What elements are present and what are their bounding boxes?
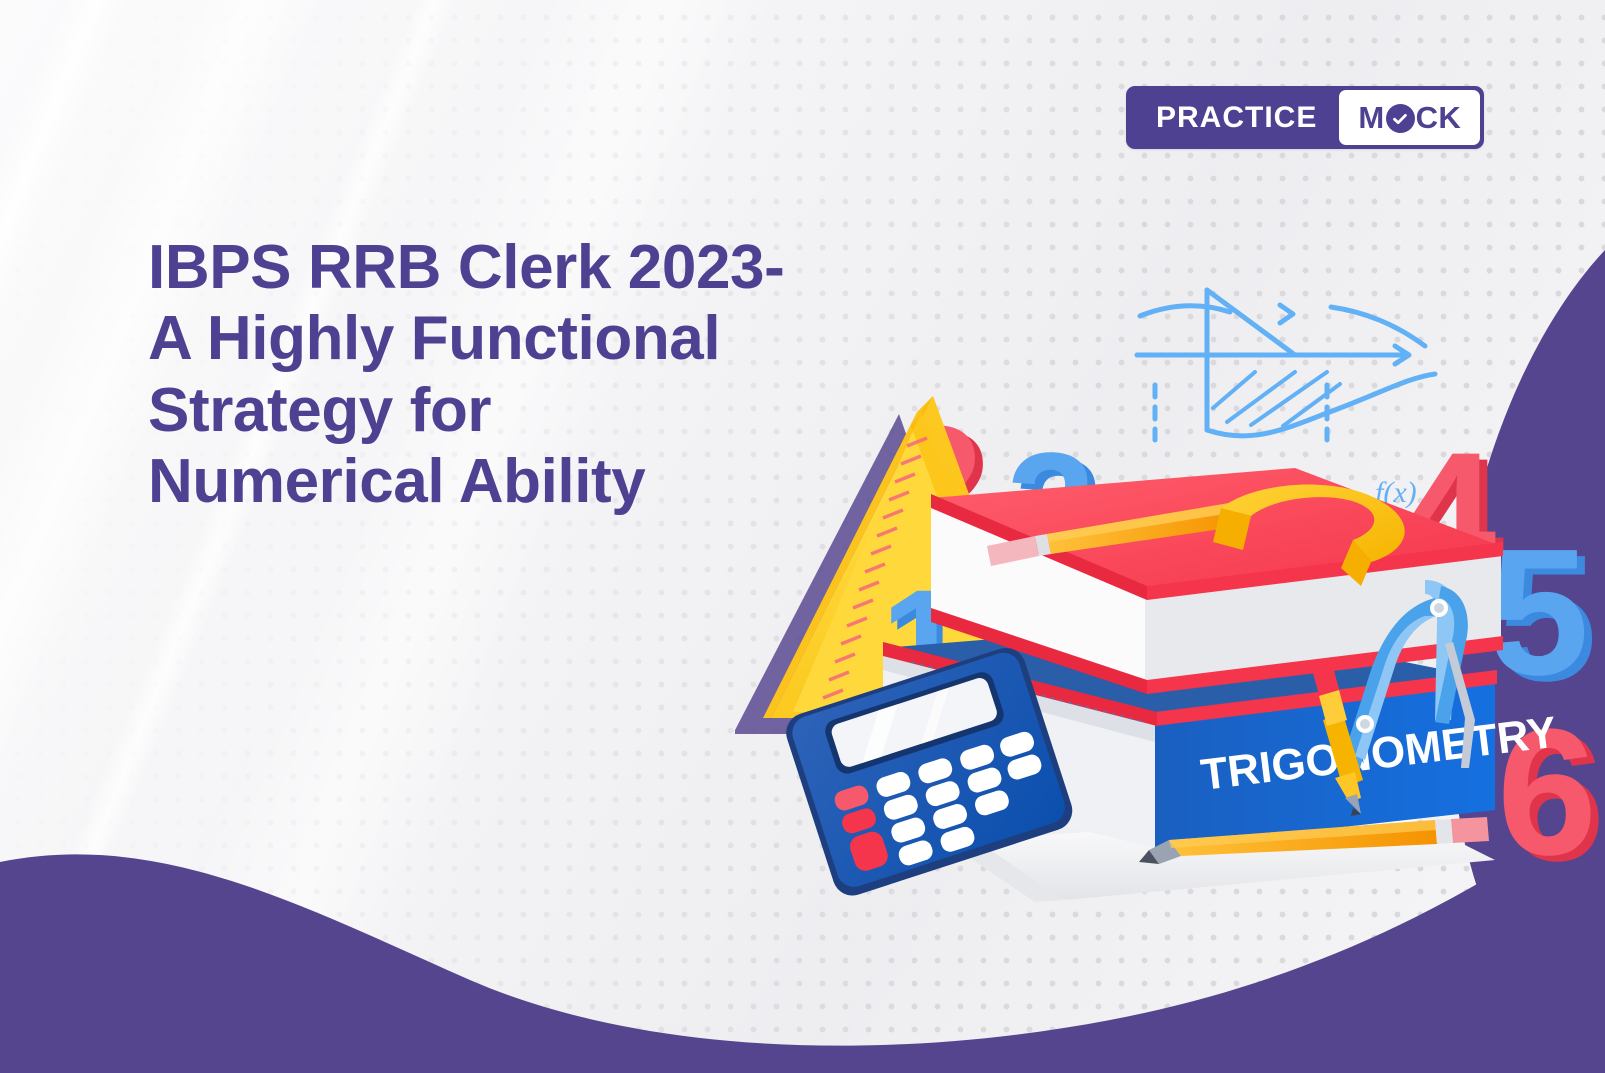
headline-line-1: IBPS RRB Clerk 2023- [148, 232, 928, 303]
banner-canvas: f(x) 3 3 2 2 [0, 0, 1605, 1073]
graph-sketch [1137, 290, 1435, 440]
headline-line-3: Strategy for [148, 375, 928, 446]
logo-mock-suffix: CK [1416, 100, 1462, 136]
logo-mock-prefix: M [1358, 100, 1384, 136]
logo-practice-word: PRACTICE [1126, 86, 1339, 149]
practicemock-logo[interactable]: PRACTICE M CK [1126, 86, 1484, 149]
page-title: IBPS RRB Clerk 2023- A Highly Functional… [148, 232, 928, 517]
logo-mock-word: M CK [1339, 90, 1480, 145]
headline-line-2: A Highly Functional [148, 303, 928, 374]
headline-line-4: Numerical Ability [148, 446, 928, 517]
check-icon [1386, 104, 1415, 133]
svg-text:5: 5 [1489, 512, 1589, 713]
number-5: 5 5 [1489, 512, 1597, 719]
